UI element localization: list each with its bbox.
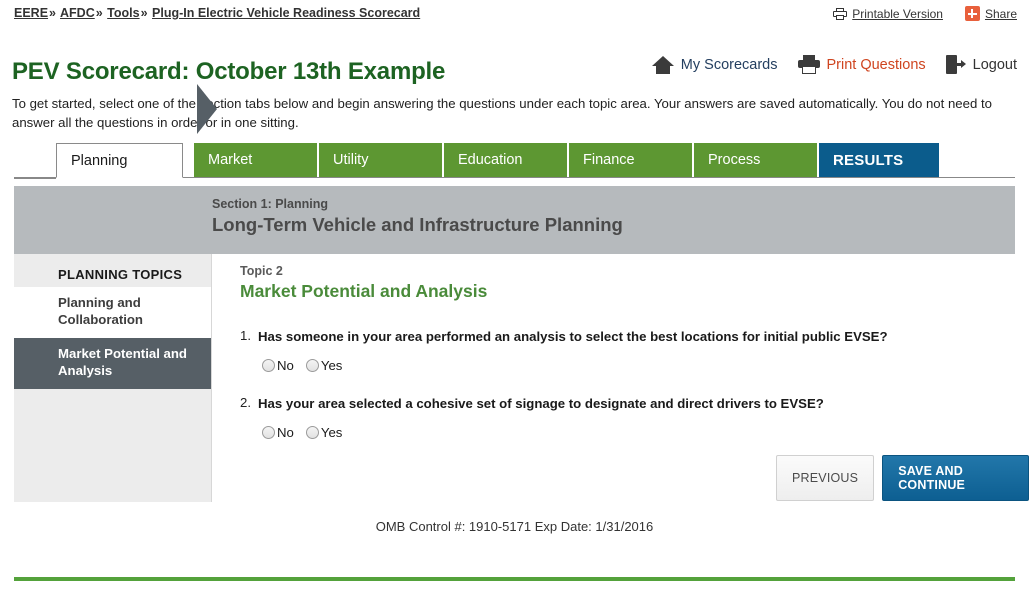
tab-finance[interactable]: Finance	[569, 143, 694, 177]
tab-label: Education	[458, 152, 523, 168]
question-text: Has someone in your area performed an an…	[258, 328, 888, 345]
answer-options: No Yes	[262, 358, 1015, 373]
previous-button-label: PREVIOUS	[792, 471, 858, 485]
form-actions: PREVIOUS SAVE AND CONTINUE	[776, 455, 1029, 501]
breadcrumb: EERE» AFDC» Tools» Plug-In Electric Vehi…	[14, 6, 420, 20]
omb-control-text: OMB Control #: 1910-5171 Exp Date: 1/31/…	[0, 519, 1029, 534]
breadcrumb-separator: »	[140, 6, 149, 20]
home-icon	[652, 56, 674, 74]
radio-option-no[interactable]: No	[262, 358, 294, 373]
tab-planning[interactable]: Planning	[56, 143, 183, 178]
radio-option-yes[interactable]: Yes	[306, 358, 343, 373]
breadcrumb-separator: »	[95, 6, 104, 20]
section-tabs: Planning Market Utility Education Financ…	[14, 143, 1015, 178]
radio-option-no[interactable]: No	[262, 425, 294, 440]
topic-content: Topic 2 Market Potential and Analysis 1.…	[240, 264, 1015, 462]
sidebar-title: PLANNING TOPICS	[58, 267, 182, 282]
question-text: Has your area selected a cohesive set of…	[258, 395, 824, 412]
radio-label: Yes	[321, 358, 343, 373]
radio-label: No	[277, 425, 294, 440]
section-title: Long-Term Vehicle and Infrastructure Pla…	[212, 214, 623, 236]
question-number: 2.	[240, 395, 251, 410]
share-label: Share	[985, 7, 1017, 21]
previous-button[interactable]: PREVIOUS	[776, 455, 874, 501]
save-and-continue-label: SAVE AND CONTINUE	[898, 464, 1013, 492]
tab-left-stub	[14, 143, 56, 179]
plus-square-icon	[965, 6, 980, 21]
print-questions-link[interactable]: Print Questions	[798, 55, 926, 74]
tab-utility[interactable]: Utility	[319, 143, 444, 177]
breadcrumb-link-scorecard[interactable]: Plug-In Electric Vehicle Readiness Score…	[152, 6, 420, 20]
printer-icon	[798, 55, 820, 74]
breadcrumb-link-afdc[interactable]: AFDC	[60, 6, 95, 20]
logout-icon	[946, 55, 966, 74]
breadcrumb-separator: »	[48, 6, 57, 20]
sidebar-item-label: Market Potential and Analysis	[58, 346, 187, 378]
printer-icon	[833, 8, 847, 20]
tab-label: Process	[708, 152, 760, 168]
question-1: 1. Has someone in your area performed an…	[240, 328, 1015, 373]
sidebar-item-label: Planning and Collaboration	[58, 295, 143, 327]
radio-icon[interactable]	[306, 359, 319, 372]
question-2: 2. Has your area selected a cohesive set…	[240, 395, 1015, 440]
my-scorecards-link[interactable]: My Scorecards	[652, 56, 778, 74]
breadcrumb-link-eere[interactable]: EERE	[14, 6, 48, 20]
page-title: PEV Scorecard: October 13th Example	[12, 58, 445, 86]
active-topic-arrow	[197, 84, 217, 134]
user-nav: My Scorecards Print Questions Logout	[652, 55, 1017, 74]
tab-results[interactable]: RESULTS	[819, 143, 939, 177]
printable-version-label: Printable Version	[852, 7, 943, 21]
answer-options: No Yes	[262, 425, 1015, 440]
section-eyebrow: Section 1: Planning	[212, 197, 328, 211]
section-header-band: Section 1: Planning Long-Term Vehicle an…	[14, 186, 1015, 254]
tab-label: Market	[208, 152, 252, 168]
radio-label: Yes	[321, 425, 343, 440]
sidebar-item-planning-and-collaboration[interactable]: Planning and Collaboration	[14, 287, 211, 338]
tab-market[interactable]: Market	[194, 143, 319, 177]
radio-icon[interactable]	[306, 426, 319, 439]
radio-option-yes[interactable]: Yes	[306, 425, 343, 440]
logout-link[interactable]: Logout	[946, 55, 1017, 74]
tab-label: Finance	[583, 152, 635, 168]
tab-education[interactable]: Education	[444, 143, 569, 177]
share-link[interactable]: Share	[965, 6, 1017, 21]
my-scorecards-label: My Scorecards	[681, 57, 778, 73]
question-number: 1.	[240, 328, 251, 343]
logout-label: Logout	[973, 57, 1017, 73]
save-and-continue-button[interactable]: SAVE AND CONTINUE	[882, 455, 1029, 501]
intro-text: To get started, select one of the sectio…	[12, 94, 992, 132]
footer-divider	[14, 577, 1015, 581]
planning-topics-sidebar: PLANNING TOPICS Planning and Collaborati…	[14, 254, 212, 502]
radio-icon[interactable]	[262, 426, 275, 439]
tab-label: Utility	[333, 152, 368, 168]
tab-label: Planning	[71, 153, 127, 169]
sidebar-item-market-potential-and-analysis[interactable]: Market Potential and Analysis	[14, 338, 211, 389]
printable-version-link[interactable]: Printable Version	[833, 7, 943, 21]
top-bar: EERE» AFDC» Tools» Plug-In Electric Vehi…	[0, 0, 1029, 30]
topic-heading: Market Potential and Analysis	[240, 281, 1015, 302]
radio-label: No	[277, 358, 294, 373]
print-questions-label: Print Questions	[827, 57, 926, 73]
radio-icon[interactable]	[262, 359, 275, 372]
breadcrumb-link-tools[interactable]: Tools	[107, 6, 139, 20]
topic-eyebrow: Topic 2	[240, 264, 1015, 278]
top-utility-links: Printable Version Share	[833, 6, 1017, 21]
tab-process[interactable]: Process	[694, 143, 819, 177]
tab-label: RESULTS	[833, 152, 903, 169]
